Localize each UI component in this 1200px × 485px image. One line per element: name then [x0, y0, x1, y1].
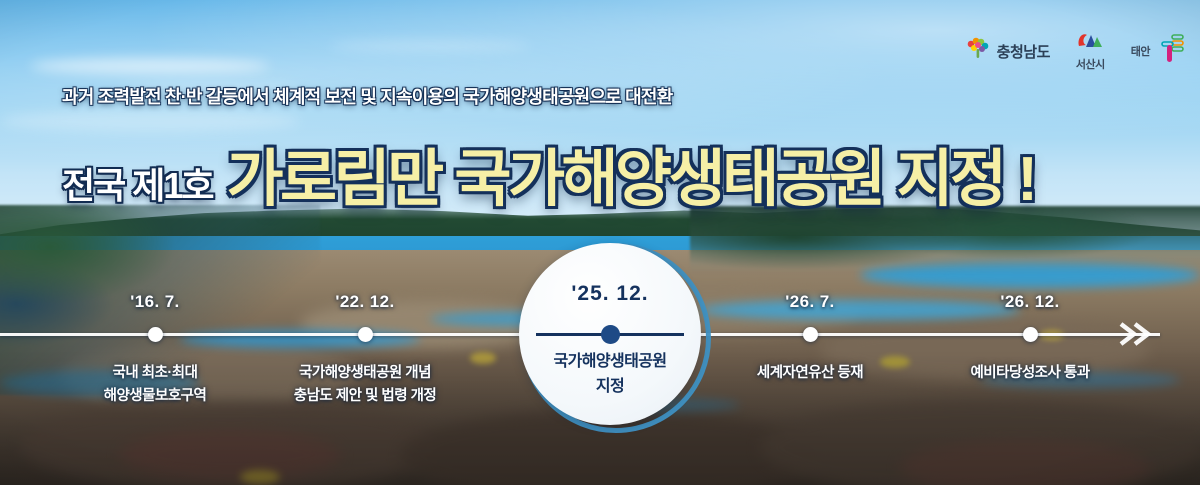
milestone-desc-line-1: 국가해양생태공원 개념 — [235, 362, 495, 385]
milestone-description: 예비타당성조사 통과 — [900, 362, 1160, 385]
milestone-desc-line-1: 예비타당성조사 통과 — [900, 362, 1160, 385]
milestone-description: 국가해양생태공원 지정 — [509, 350, 711, 400]
milestone-description: 국가해양생태공원 개념 충남도 제안 및 법령 개정 — [235, 362, 495, 409]
milestone-dot — [803, 327, 818, 342]
milestone-date: '16. 7. — [45, 292, 265, 312]
timeline: '16. 7. 국내 최초·최대 해양생물보호구역 '22. 12. 국가해양생… — [0, 0, 1200, 485]
milestone-desc-line-1: 국가해양생태공원 — [509, 350, 711, 375]
milestone-date: '22. 12. — [255, 292, 475, 312]
milestone-date: '25. 12. — [519, 282, 701, 306]
milestone-dot — [1023, 327, 1038, 342]
promo-banner: 충청남도 서산시 태안 — [0, 0, 1200, 485]
milestone-desc-line-2: 충남도 제안 및 법령 개정 — [235, 385, 495, 408]
milestone-dot — [358, 327, 373, 342]
milestone-date: '26. 12. — [920, 292, 1140, 312]
milestone-dot — [601, 325, 620, 344]
milestone-dot — [148, 327, 163, 342]
milestone-date: '26. 7. — [700, 292, 920, 312]
milestone-desc-line-2: 지정 — [509, 375, 711, 400]
double-chevron-right-icon — [1118, 318, 1158, 350]
